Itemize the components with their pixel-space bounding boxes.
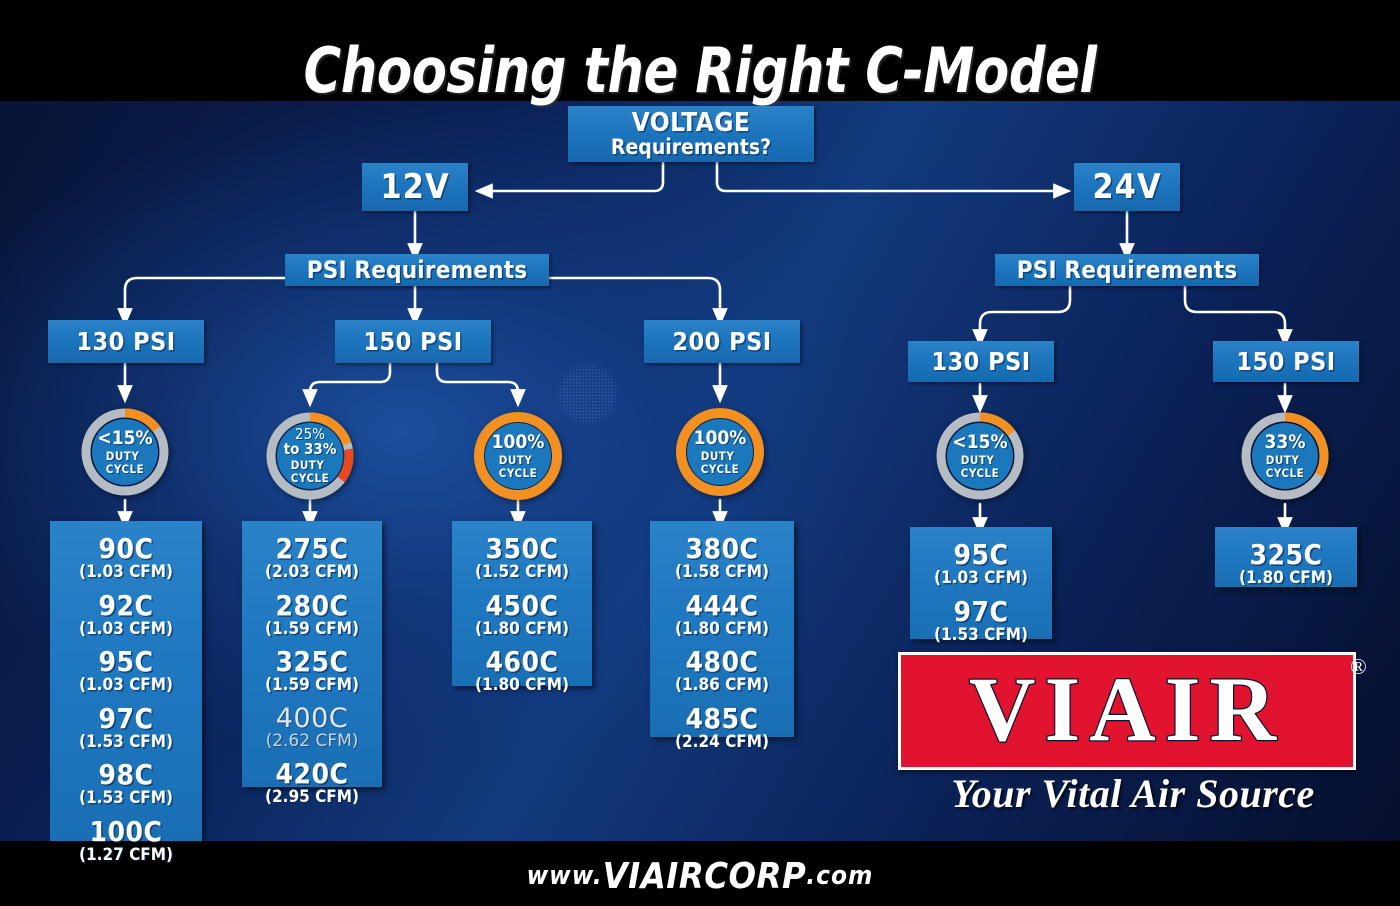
model-name: 460C [456, 648, 588, 676]
model-name: 95C [54, 648, 198, 676]
duty-cycle-donut-12v-150psi-100: 100% DUTY CYCLE [470, 408, 566, 504]
model-name: 95C [914, 541, 1048, 569]
model-cfm: (1.59 CFM) [246, 676, 378, 696]
model-item: 92C (1.03 CFM) [54, 592, 198, 640]
model-name: 325C [1219, 541, 1353, 569]
model-item: 420C (2.95 CFM) [246, 760, 378, 808]
model-cfm: (2.24 CFM) [654, 733, 790, 753]
model-name: 350C [456, 535, 588, 563]
viair-logo-plate: VIAIR [898, 652, 1356, 770]
model-list-12v-200psi: 380C (1.58 CFM) 444C (1.80 CFM) 480C (1.… [650, 521, 794, 737]
voltage-requirements-line2: Requirements? [611, 137, 771, 158]
model-name: 480C [654, 648, 790, 676]
model-cfm: (1.53 CFM) [914, 626, 1048, 646]
model-name: 380C [654, 535, 790, 563]
model-list-24v-130psi: 95C (1.03 CFM) 97C (1.53 CFM) [910, 527, 1052, 639]
model-name: 325C [246, 648, 378, 676]
model-item: 90C (1.03 CFM) [54, 535, 198, 583]
node-130psi-24v-label: 130 PSI [931, 349, 1030, 375]
model-name: 100C [54, 818, 198, 846]
duty-cycle-donut-24v-150psi: 33% DUTY CYCLE [1237, 408, 1333, 504]
model-name: 280C [246, 592, 378, 620]
model-item: 350C (1.52 CFM) [456, 535, 588, 583]
node-130psi-12v-label: 130 PSI [76, 329, 175, 355]
duty-cycle-donut-12v-150psi-33: 25% to 33% DUTY CYCLE [262, 408, 358, 504]
node-12v[interactable]: 12V [362, 163, 468, 211]
model-cfm: (1.58 CFM) [654, 563, 790, 583]
model-item: 480C (1.86 CFM) [654, 648, 790, 696]
model-cfm: (1.80 CFM) [456, 620, 588, 640]
model-item: 98C (1.53 CFM) [54, 761, 198, 809]
footer-url[interactable]: www. VIAIRCORP .com [0, 846, 1400, 906]
model-cfm: (1.03 CFM) [54, 676, 198, 696]
model-item: 325C (1.59 CFM) [246, 648, 378, 696]
node-130psi-12v[interactable]: 130 PSI [48, 320, 204, 363]
model-name: 92C [54, 592, 198, 620]
model-name: 275C [246, 535, 378, 563]
duty-cycle-donut-12v-130psi: <15% DUTY CYCLE [77, 404, 173, 500]
voltage-requirements-line1: VOLTAGE [632, 110, 751, 137]
model-name: 90C [54, 535, 198, 563]
node-150psi-24v-label: 150 PSI [1236, 349, 1335, 375]
model-cfm: (2.95 CFM) [246, 788, 378, 808]
model-cfm: (2.03 CFM) [246, 563, 378, 583]
model-item: 485C (2.24 CFM) [654, 705, 790, 753]
model-cfm: (1.03 CFM) [914, 569, 1048, 589]
psi-requirements-12v[interactable]: PSI Requirements [285, 254, 549, 286]
model-name: 98C [54, 761, 198, 789]
psi-requirements-12v-label: PSI Requirements [307, 258, 528, 282]
node-24v-label: 24V [1092, 170, 1161, 205]
model-item: 280C (1.59 CFM) [246, 592, 378, 640]
footer-url-prefix: www. [527, 861, 603, 891]
model-cfm: (1.53 CFM) [54, 733, 198, 753]
viair-logo: VIAIR ® Your Vital Air Source [898, 652, 1368, 820]
model-item: 450C (1.80 CFM) [456, 592, 588, 640]
node-150psi-12v[interactable]: 150 PSI [335, 320, 491, 363]
model-name: 97C [54, 705, 198, 733]
model-list-12v-150psi-33: 275C (2.03 CFM) 280C (1.59 CFM) 325C (1.… [242, 521, 382, 787]
node-200psi-12v-label: 200 PSI [672, 329, 771, 355]
model-list-24v-150psi: 325C (1.80 CFM) [1215, 527, 1357, 587]
duty-cycle-donut-12v-200psi: 100% DUTY CYCLE [672, 404, 768, 500]
node-150psi-12v-label: 150 PSI [363, 329, 462, 355]
footer-url-suffix: .com [806, 861, 873, 891]
model-item: 444C (1.80 CFM) [654, 592, 790, 640]
viair-tagline: Your Vital Air Source [898, 770, 1368, 817]
node-150psi-24v[interactable]: 150 PSI [1213, 341, 1359, 382]
footer-url-domain: VIAIRCORP [603, 856, 807, 897]
model-item: 95C (1.03 CFM) [914, 541, 1048, 589]
model-item: 380C (1.58 CFM) [654, 535, 790, 583]
model-name: 97C [914, 598, 1048, 626]
model-name: 400C [246, 705, 378, 732]
model-item: 460C (1.80 CFM) [456, 648, 588, 696]
model-list-12v-130psi: 90C (1.03 CFM) 92C (1.03 CFM) 95C (1.03 … [50, 521, 202, 841]
model-cfm: (1.80 CFM) [456, 676, 588, 696]
node-200psi-12v[interactable]: 200 PSI [644, 320, 800, 363]
model-item: 97C (1.53 CFM) [54, 705, 198, 753]
psi-requirements-24v-label: PSI Requirements [1017, 258, 1238, 282]
model-item: 95C (1.03 CFM) [54, 648, 198, 696]
model-item: 325C (1.80 CFM) [1219, 541, 1353, 589]
model-cfm: (1.03 CFM) [54, 563, 198, 583]
model-cfm: (1.80 CFM) [1219, 569, 1353, 589]
model-name: 485C [654, 705, 790, 733]
model-item: 97C (1.53 CFM) [914, 598, 1048, 646]
model-cfm: (1.53 CFM) [54, 789, 198, 809]
duty-cycle-donut-24v-130psi: <15% DUTY CYCLE [932, 408, 1028, 504]
registered-trademark-icon: ® [1350, 654, 1367, 680]
node-130psi-24v[interactable]: 130 PSI [908, 341, 1054, 382]
viair-wordmark: VIAIR [901, 655, 1353, 767]
model-name: 444C [654, 592, 790, 620]
model-cfm: (1.80 CFM) [654, 620, 790, 640]
model-item: 275C (2.03 CFM) [246, 535, 378, 583]
node-12v-label: 12V [380, 170, 449, 205]
model-cfm: (1.86 CFM) [654, 676, 790, 696]
psi-requirements-24v[interactable]: PSI Requirements [995, 254, 1259, 286]
model-name: 420C [246, 760, 378, 788]
model-cfm: (1.03 CFM) [54, 620, 198, 640]
page-title: Choosing the Right C-Model [56, 34, 1344, 107]
model-cfm: (2.62 CFM) [246, 732, 378, 752]
infographic-canvas: Choosing the Right C-Model [0, 0, 1400, 906]
voltage-requirements-node[interactable]: VOLTAGE Requirements? [568, 106, 814, 162]
model-cfm: (1.52 CFM) [456, 563, 588, 583]
model-list-12v-150psi-100: 350C (1.52 CFM) 450C (1.80 CFM) 460C (1.… [452, 521, 592, 686]
model-name: 450C [456, 592, 588, 620]
model-cfm: (1.59 CFM) [246, 620, 378, 640]
node-24v[interactable]: 24V [1074, 163, 1180, 211]
model-item: 400C (2.62 CFM) [246, 705, 378, 752]
